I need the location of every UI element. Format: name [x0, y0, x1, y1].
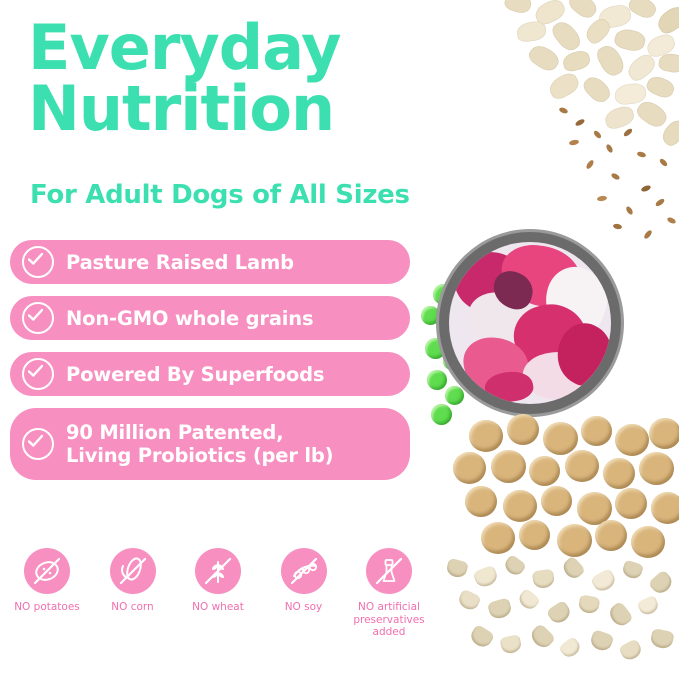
check-icon — [22, 302, 54, 334]
feature-list: Pasture Raised Lamb Non-GMO whole grains… — [10, 240, 410, 492]
claim-label: NO corn — [94, 601, 172, 614]
feature-bar: Non-GMO whole grains — [10, 296, 410, 340]
feature-label: 90 Million Patented, Living Probiotics (… — [66, 421, 333, 467]
no-wheat-icon — [195, 548, 241, 594]
check-icon — [22, 358, 54, 390]
feature-label: Powered By Superfoods — [66, 363, 324, 386]
claim-item: NO wheat — [179, 548, 257, 639]
claim-label: NO artificial preservatives added — [350, 601, 428, 639]
feature-bar: 90 Million Patented, Living Probiotics (… — [10, 408, 410, 480]
no-claims-row: NO potatoes NO corn — [8, 548, 428, 639]
feature-label: Pasture Raised Lamb — [66, 251, 294, 274]
claim-item: NO artificial preservatives added — [350, 548, 428, 639]
ingredients-photo — [409, 0, 679, 679]
headline-line-2: Nutrition — [28, 79, 428, 140]
check-icon — [22, 428, 54, 460]
headline-block: Everyday Nutrition — [28, 18, 428, 140]
claim-label: NO soy — [265, 601, 343, 614]
claim-item: NO soy — [265, 548, 343, 639]
claim-label: NO wheat — [179, 601, 257, 614]
check-icon — [22, 246, 54, 278]
no-corn-icon — [110, 548, 156, 594]
no-potato-icon — [24, 548, 70, 594]
headline-line-1: Everyday — [28, 18, 428, 79]
feature-bar: Pasture Raised Lamb — [10, 240, 410, 284]
no-preservatives-icon — [366, 548, 412, 594]
no-soy-icon — [281, 548, 327, 594]
feature-label: Non-GMO whole grains — [66, 307, 313, 330]
claim-item: NO potatoes — [8, 548, 86, 639]
claim-item: NO corn — [94, 548, 172, 639]
feature-bar: Powered By Superfoods — [10, 352, 410, 396]
subtitle: For Adult Dogs of All Sizes — [30, 180, 410, 210]
bowl-of-lamb — [439, 232, 621, 414]
product-infographic: Everyday Nutrition For Adult Dogs of All… — [0, 0, 679, 679]
claim-label: NO potatoes — [8, 601, 86, 614]
